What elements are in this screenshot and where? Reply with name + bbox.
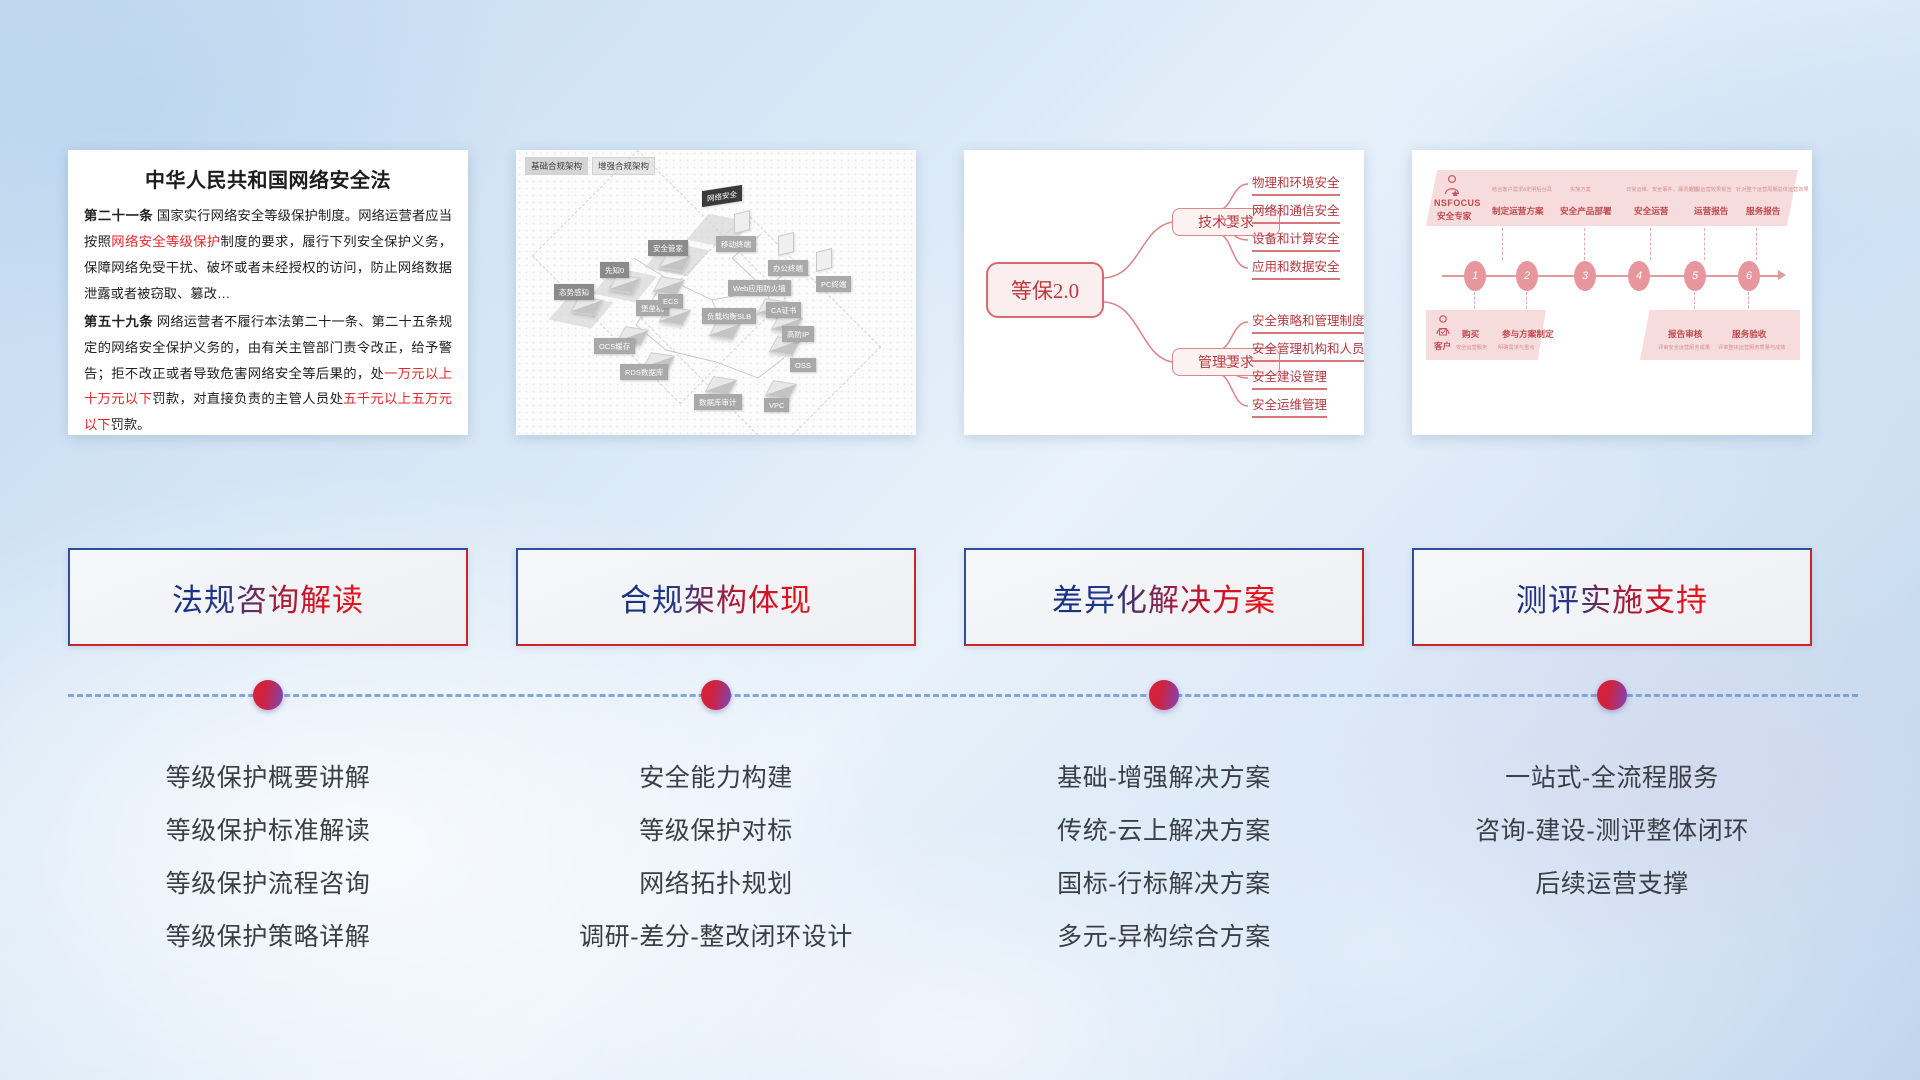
roadmap: NSFOCUS 安全专家 制定运营方案 结合客户需求ä定明后台具 安全产品部署 …	[1412, 150, 1812, 435]
mindmap-root-node: 等保2.0	[986, 262, 1104, 318]
list-item: 后续运营支撑	[1535, 864, 1689, 900]
roadmap-customer-action-4: 服务验收	[1732, 328, 1766, 340]
architecture-diagram: 基础合规架构 增强合规架构	[516, 150, 916, 435]
customer-icon	[1434, 314, 1452, 341]
architecture-node-rds: RDS数据库	[620, 364, 668, 380]
roadmap-connector-top-4	[1704, 228, 1705, 260]
roadmap-step-5: 5	[1684, 261, 1706, 291]
section-title-4: 测评实施支持	[1516, 575, 1708, 620]
roadmap-phase-5-label: 服务报告	[1746, 205, 1780, 217]
law-article-59: 第五十九条 网络运营者不履行本法第二十一条、第二十五条规定的网络安全保护义务的，…	[84, 309, 452, 435]
list-item: 等级保护概要讲解	[166, 758, 371, 794]
card-cybersecurity-law[interactable]: 中华人民共和国网络安全法 第二十一条 国家实行网络安全等级保护制度。网络运营者应…	[68, 150, 468, 435]
law-article-59-text-2: 罚款，对直接负责的主管人员处	[152, 391, 343, 406]
roadmap-phase-1-label: 制定运营方案	[1492, 205, 1544, 217]
architecture-node-xianzhi: 先知0	[600, 262, 629, 278]
timeline-marker-3[interactable]	[1149, 680, 1179, 710]
roadmap-expert-brand: NSFOCUS	[1434, 198, 1481, 208]
mindmap-leaf-ops-mgmt: 安全运维管理	[1252, 394, 1327, 418]
list-item: 国标-行标解决方案	[1057, 864, 1271, 900]
architecture-node-ca-cert: CA证书	[766, 302, 801, 318]
roadmap-connector-top-2	[1584, 228, 1585, 260]
roadmap-step-1: 1	[1464, 261, 1486, 291]
section-title-3: 差异化解决方案	[1052, 575, 1276, 620]
mindmap-leaf-construction-mgmt: 安全建设管理	[1252, 366, 1327, 390]
section-title-box-4[interactable]: 测评实施支持	[1412, 548, 1812, 646]
roadmap-customer-action-4-sub: 评审整体运营服务质量与成效	[1718, 344, 1785, 351]
card-dengbao-mindmap[interactable]: 等保2.0 技术要求 物理和环境安全 网络和通信安全 设备和计算安全 应用和数据…	[964, 150, 1364, 435]
architecture-device-pc	[816, 248, 832, 272]
roadmap-top-band	[1426, 170, 1798, 226]
list-item: 基础-增强解决方案	[1057, 758, 1271, 794]
mindmap-collapse-dot-management	[1224, 358, 1232, 366]
architecture-node-db-audit: 数据库审计	[694, 394, 742, 410]
roadmap-step-6: 6	[1738, 261, 1760, 291]
architecture-node-slb: 负载均衡SLB	[702, 308, 756, 324]
section-items-col-3: 基础-增强解决方案 传统-云上解决方案 国标-行标解决方案 多元-异构综合方案	[964, 740, 1364, 1020]
mindmap-collapse-dot-technical	[1224, 218, 1232, 226]
list-item: 等级保护对标	[639, 811, 793, 847]
timeline-dashed-line	[68, 694, 1858, 698]
architecture-node-situational-awareness: 态势感知	[554, 284, 594, 300]
law-article-59-text-3: 罚款。	[111, 417, 151, 432]
roadmap-customer-action-2-sub: 明确需求与重点	[1498, 344, 1534, 351]
list-item: 传统-云上解决方案	[1057, 811, 1271, 847]
roadmap-customer-action-1-sub: 安全运营服务	[1456, 344, 1487, 351]
law-title: 中华人民共和国网络安全法	[68, 164, 468, 193]
roadmap-timeline-axis	[1442, 275, 1782, 277]
section-items-col-2: 安全能力构建 等级保护对标 网络拓扑规划 调研-差分-整改闭环设计	[516, 740, 916, 1020]
list-item: 网络拓扑规划	[639, 864, 793, 900]
architecture-node-oss: OSS	[790, 358, 816, 372]
roadmap-connector-top-5	[1756, 228, 1757, 260]
list-item: 多元-异构综合方案	[1057, 917, 1271, 953]
section-title-2: 合规架构体现	[620, 575, 812, 620]
roadmap-phase-2-label: 安全产品部署	[1560, 205, 1612, 217]
law-article-59-label: 第五十九条	[84, 314, 153, 329]
timeline-marker-4[interactable]	[1597, 680, 1627, 710]
architecture-node-ecs: ECS	[658, 294, 683, 308]
list-item: 咨询-建设-测评整体闭环	[1475, 811, 1749, 847]
mindmap-leaf-org-personnel: 安全管理机构和人员	[1252, 338, 1364, 362]
architecture-device-mobile	[734, 210, 750, 234]
section-title-box-2[interactable]: 合规架构体现	[516, 548, 916, 646]
list-item: 一站式-全流程服务	[1505, 758, 1719, 794]
section-title-box-1[interactable]: 法规咨询解读	[68, 548, 468, 646]
law-article-21-highlight: 网络安全等级保护	[111, 234, 220, 249]
roadmap-phase-1-sub: 结合客户需求ä定明后台具	[1492, 186, 1552, 193]
list-item: 等级保护流程咨询	[166, 864, 371, 900]
architecture-node-security-butler: 安全管家	[648, 240, 688, 256]
roadmap-expert-role: 安全专家	[1437, 210, 1471, 222]
architecture-node-waf: Web应用防火墙	[728, 280, 791, 296]
architecture-node-ocs-cache: OCS缓存	[594, 338, 635, 354]
mindmap-leaf-device-compute: 设备和计算安全	[1252, 228, 1340, 252]
preview-cards-row: 中华人民共和国网络安全法 第二十一条 国家实行网络安全等级保护制度。网络运营者应…	[68, 150, 1858, 435]
list-item: 等级保护策略详解	[166, 917, 371, 953]
list-item: 等级保护标准解读	[166, 811, 371, 847]
architecture-node-vpc: VPC	[764, 398, 789, 412]
section-title-box-3[interactable]: 差异化解决方案	[964, 548, 1364, 646]
roadmap-customer-band-right	[1640, 310, 1800, 360]
section-items-col-1: 等级保护概要讲解 等级保护标准解读 等级保护流程咨询 等级保护策略详解	[68, 740, 468, 1020]
roadmap-phase-3-label: 安全运营	[1634, 205, 1668, 217]
card-compliance-architecture[interactable]: 基础合规架构 增强合规架构	[516, 150, 916, 435]
law-body: 第二十一条 国家实行网络安全等级保护制度。网络运营者应当按照网络安全等级保护制度…	[68, 193, 468, 435]
roadmap-customer-action-2: 参与方案制定	[1502, 328, 1554, 340]
roadmap-phase-3-sub: 日常运维、安全事件、漏洞处置	[1626, 186, 1699, 193]
roadmap-customer-action-3-sub: 评审安全运营服务成果	[1658, 344, 1710, 351]
roadmap-phase-2-sub: 实施方案	[1570, 186, 1591, 193]
roadmap-customer-role: 客户	[1434, 340, 1451, 352]
roadmap-step-3: 3	[1574, 261, 1596, 291]
security-expert-icon	[1442, 174, 1462, 201]
mindmap-leaf-network-comm: 网络和通信安全	[1252, 200, 1340, 224]
architecture-device-office	[778, 232, 794, 256]
roadmap-connector-top-3	[1650, 228, 1651, 260]
section-title-1: 法规咨询解读	[172, 575, 364, 620]
roadmap-step-2: 2	[1516, 261, 1538, 291]
section-titles-row: 法规咨询解读 合规架构体现 差异化解决方案 测评实施支持	[68, 548, 1858, 646]
card-nsfocus-roadmap[interactable]: NSFOCUS 安全专家 制定运营方案 结合客户需求ä定明后台具 安全产品部署 …	[1412, 150, 1812, 435]
roadmap-phase-4-label: 运营报告	[1694, 205, 1728, 217]
mindmap-leaf-policy-system: 安全策略和管理制度	[1252, 310, 1364, 334]
list-item: 调研-差分-整改闭环设计	[579, 917, 853, 953]
mindmap-leaf-physical-env: 物理和环境安全	[1252, 172, 1340, 196]
timeline-marker-2[interactable]	[701, 680, 731, 710]
roadmap-step-4: 4	[1628, 261, 1650, 291]
roadmap-phase-4-sub: 阶段运营效果报告	[1690, 186, 1732, 193]
mindmap: 等保2.0 技术要求 物理和环境安全 网络和通信安全 设备和计算安全 应用和数据…	[964, 150, 1364, 435]
timeline-marker-1[interactable]	[253, 680, 283, 710]
architecture-node-office-terminal: 办公终端	[768, 260, 808, 276]
law-article-21-label: 第二十一条	[84, 208, 153, 223]
roadmap-customer-action-3: 报告审核	[1668, 328, 1702, 340]
law-article-21: 第二十一条 国家实行网络安全等级保护制度。网络运营者应当按照网络安全等级保护制度…	[84, 203, 452, 307]
roadmap-phase-5-sub: 针对整个运营周期总体运营效果	[1736, 186, 1809, 193]
architecture-node-anti-ddos: 高防IP	[782, 326, 814, 342]
architecture-node-pc-terminal: PC终端	[816, 276, 851, 292]
roadmap-timeline-arrow-icon	[1778, 270, 1786, 280]
list-item: 安全能力构建	[639, 758, 793, 794]
section-items-row: 等级保护概要讲解 等级保护标准解读 等级保护流程咨询 等级保护策略详解 安全能力…	[68, 740, 1858, 1020]
roadmap-customer-action-1: 购买	[1462, 328, 1479, 340]
roadmap-connector-top-1	[1502, 228, 1503, 260]
architecture-node-mobile-terminal: 移动终端	[716, 236, 756, 252]
mindmap-leaf-app-data: 应用和数据安全	[1252, 256, 1340, 280]
section-items-col-4: 一站式-全流程服务 咨询-建设-测评整体闭环 后续运营支撑	[1412, 740, 1812, 1020]
